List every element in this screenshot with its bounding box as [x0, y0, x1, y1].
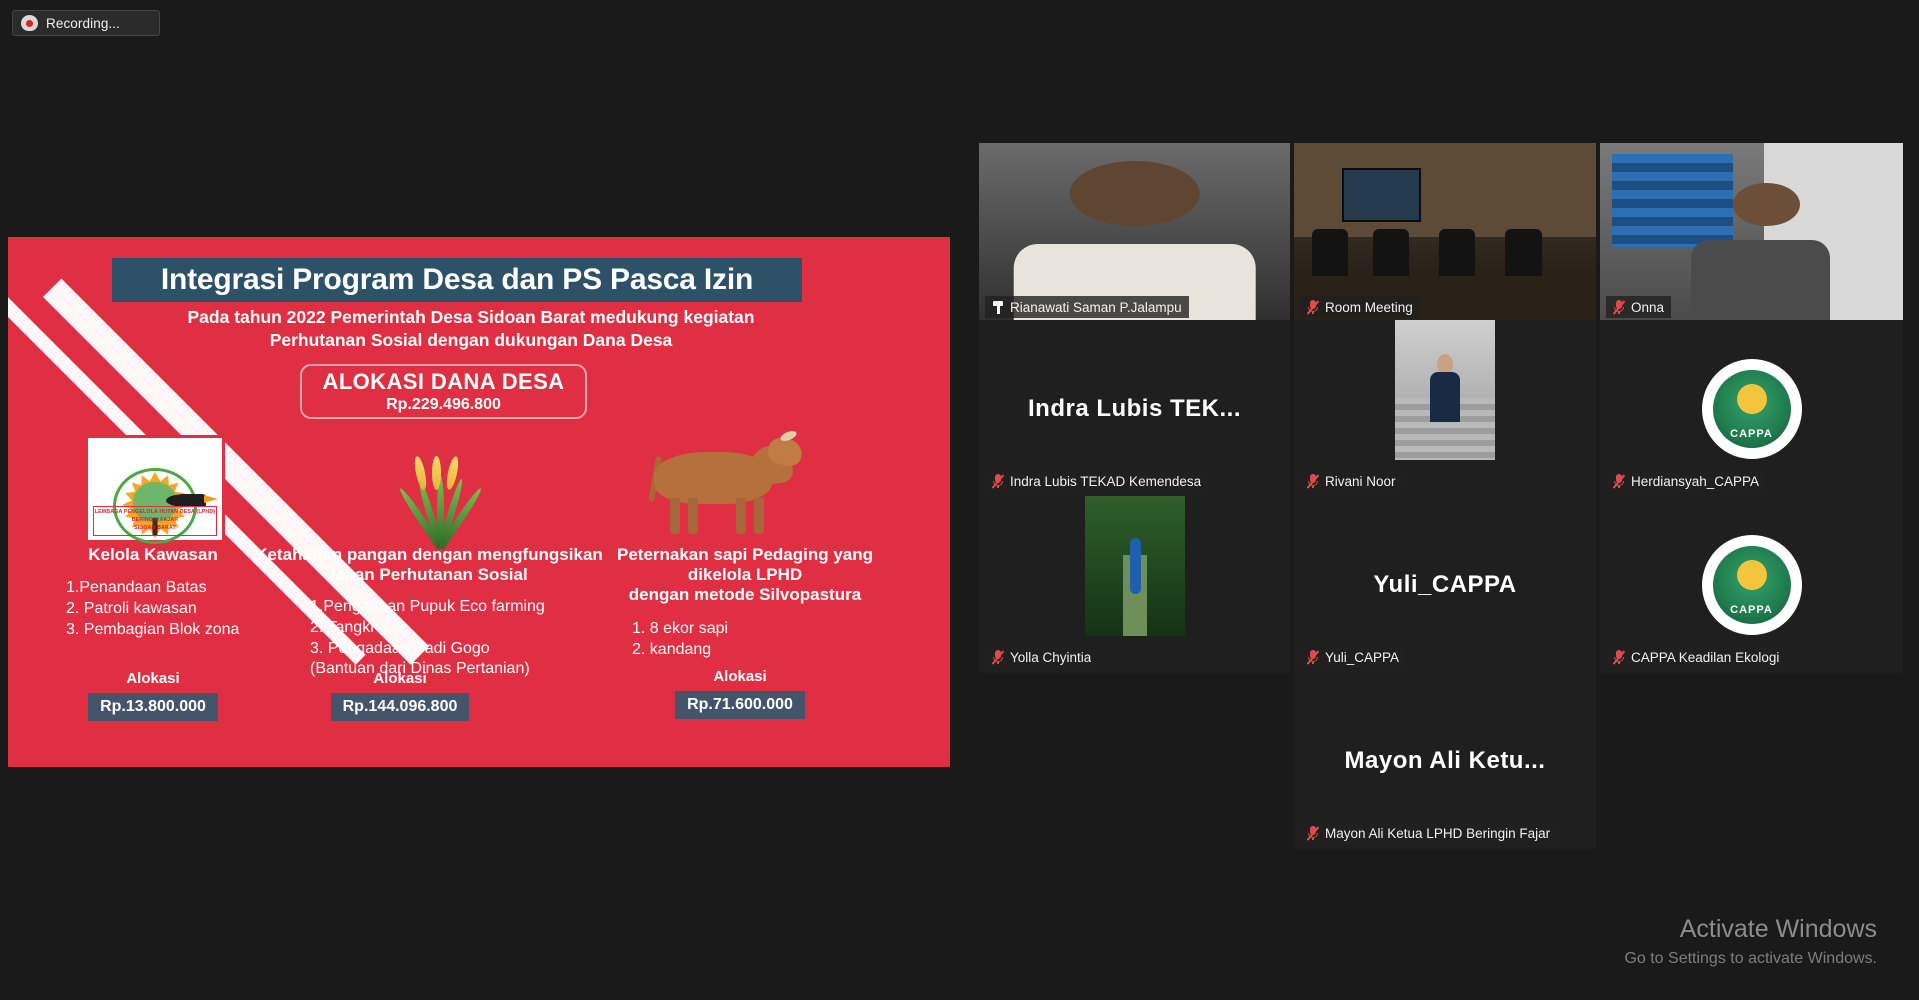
participant-name-bar: Yolla Chyintia	[985, 646, 1098, 668]
cattle-illustration	[640, 430, 800, 535]
allocation-total-label: ALOKASI DANA DESA	[323, 369, 565, 395]
participant-name-bar: CAPPA Keadilan Ekologi	[1606, 646, 1786, 668]
mic-muted-icon	[1307, 826, 1319, 841]
slide-subtitle: Pada tahun 2022 Pemerintah Desa Sidoan B…	[0, 306, 942, 352]
participant-name: Yuli_CAPPA	[1325, 650, 1399, 665]
recording-indicator[interactable]: Recording...	[12, 10, 160, 36]
column-2-heading: Ketahanan pangan dengan mengfungsikan la…	[244, 545, 614, 585]
participant-photo	[1395, 320, 1495, 460]
column-2-heading-line-1: Ketahanan pangan dengan mengfungsikan	[244, 545, 614, 565]
mic-muted-icon	[1613, 300, 1625, 315]
cappa-logo-icon: CAPPA	[1702, 535, 1802, 635]
rice-plant-illustration	[382, 438, 492, 548]
participant-name-bar: Rivani Noor	[1300, 470, 1403, 492]
logo-line-3: SIDOAN BARAT	[134, 525, 176, 533]
slide-subtitle-line-2: Perhutanan Sosial dengan dukungan Dana D…	[0, 329, 942, 352]
mic-muted-icon	[1613, 650, 1625, 665]
slide-column-3: Peternakan sapi Pedaging yang dikelola L…	[580, 545, 910, 661]
participant-name: Room Meeting	[1325, 300, 1413, 315]
column-2-list: 1.Pengadaan Pupuk Eco farming 2. Tangki …	[244, 597, 614, 680]
mic-muted-icon	[1307, 474, 1319, 489]
windows-activation-watermark: Activate Windows Go to Settings to activ…	[1624, 915, 1877, 968]
cappa-logo-text: CAPPA	[1713, 604, 1791, 616]
participant-tile-herdiansyah[interactable]: CAPPA Herdiansyah_CAPPA	[1600, 320, 1903, 497]
column-3-heading: Peternakan sapi Pedaging yang dikelola L…	[580, 545, 910, 605]
logo-text-plate: LEMBAGA PENGELOLA HUTAN DESA (LPHD) BERI…	[93, 506, 217, 536]
participant-name: Indra Lubis TEKAD Kemendesa	[1010, 474, 1201, 489]
allocation-label: Alokasi	[615, 668, 865, 685]
mic-muted-icon	[992, 474, 1004, 489]
participant-name: Onna	[1631, 300, 1664, 315]
participant-tile-mayon-ali[interactable]: Mayon Ali Ketu... Mayon Ali Ketua LPHD B…	[1294, 672, 1596, 849]
column-1-allocation: Alokasi Rp.13.800.000	[28, 670, 278, 721]
record-dot-icon	[21, 15, 38, 31]
participant-name: CAPPA Keadilan Ekologi	[1631, 650, 1779, 665]
participant-tile-cappa-keadilan[interactable]: CAPPA CAPPA Keadilan Ekologi	[1600, 496, 1903, 673]
participant-name-bar: Onna	[1606, 296, 1671, 318]
list-item: 2. kandang	[632, 640, 910, 661]
allocation-total-box: ALOKASI DANA DESA Rp.229.496.800	[300, 364, 587, 419]
allocation-total-amount: Rp.229.496.800	[386, 396, 501, 414]
cappa-logo-text: CAPPA	[1713, 428, 1791, 440]
column-2-allocation: Alokasi Rp.144.096.800	[275, 670, 525, 721]
participant-tile-yolla[interactable]: Yolla Chyintia	[979, 496, 1290, 673]
participant-name: Mayon Ali Ketua LPHD Beringin Fajar	[1325, 826, 1550, 841]
logo-line-2: BERINGIN FAJAR	[132, 517, 179, 525]
recording-label: Recording...	[46, 16, 120, 31]
participant-tile-indra-lubis[interactable]: Indra Lubis TEK... Indra Lubis TEKAD Kem…	[979, 320, 1290, 497]
participant-name-bar: Rianawati Saman P.Jalampu	[985, 296, 1189, 318]
column-1-list: 1.Penandaan Batas 2. Patroli kawasan 3. …	[28, 578, 278, 640]
slide-column-1: Kelola Kawasan 1.Penandaan Batas 2. Patr…	[28, 545, 278, 640]
participant-tile-rivani-noor[interactable]: Rivani Noor	[1294, 320, 1596, 497]
allocation-amount: Rp.13.800.000	[88, 693, 218, 721]
list-item: 1.Pengadaan Pupuk Eco farming	[310, 597, 614, 618]
mic-muted-icon	[992, 650, 1004, 665]
participant-name: Herdiansyah_CAPPA	[1631, 474, 1759, 489]
participant-name: Rianawati Saman P.Jalampu	[1010, 300, 1182, 315]
column-3-list: 1. 8 ekor sapi 2. kandang	[580, 619, 910, 661]
participant-name-bar: Mayon Ali Ketua LPHD Beringin Fajar	[1300, 822, 1557, 844]
column-3-allocation: Alokasi Rp.71.600.000	[615, 668, 865, 719]
watermark-line-1: Activate Windows	[1624, 915, 1877, 944]
lphd-logo: LEMBAGA PENGELOLA HUTAN DESA (LPHD) BERI…	[85, 435, 225, 543]
participant-tile-room-meeting[interactable]: Room Meeting	[1294, 143, 1596, 323]
allocation-amount: Rp.144.096.800	[331, 693, 470, 721]
logo-line-1: LEMBAGA PENGELOLA HUTAN DESA (LPHD)	[95, 509, 215, 517]
participant-photo	[1085, 496, 1185, 636]
participant-name-bar: Indra Lubis TEKAD Kemendesa	[985, 470, 1208, 492]
allocation-label: Alokasi	[275, 670, 525, 687]
participant-name: Yolla Chyintia	[1010, 650, 1091, 665]
participant-tile-onna[interactable]: Onna	[1600, 143, 1903, 323]
participant-tile-yuli-cappa[interactable]: Yuli_CAPPA Yuli_CAPPA	[1294, 496, 1596, 673]
list-item: 2. Tangki	[310, 618, 614, 639]
column-3-heading-line-3: dengan metode Silvopastura	[580, 585, 910, 605]
column-3-heading-line-2: dikelola LPHD	[580, 565, 910, 585]
participant-name-bar: Room Meeting	[1300, 296, 1420, 318]
pin-icon	[992, 300, 1004, 315]
watermark-line-2: Go to Settings to activate Windows.	[1624, 950, 1877, 968]
cappa-logo-icon: CAPPA	[1702, 359, 1802, 459]
slide-column-2: Ketahanan pangan dengan mengfungsikan la…	[244, 545, 614, 680]
column-2-heading-line-2: lahan Perhutanan Sosial	[244, 565, 614, 585]
allocation-amount: Rp.71.600.000	[675, 691, 805, 719]
slide-title-text: Integrasi Program Desa dan PS Pasca Izin	[161, 263, 753, 297]
list-item: 3. Pengadaan Padi Gogo	[310, 639, 614, 660]
slide-title: Integrasi Program Desa dan PS Pasca Izin	[112, 258, 802, 302]
slide-subtitle-line-1: Pada tahun 2022 Pemerintah Desa Sidoan B…	[0, 306, 942, 329]
allocation-label: Alokasi	[28, 670, 278, 687]
participant-name: Rivani Noor	[1325, 474, 1396, 489]
list-item: 1. 8 ekor sapi	[632, 619, 910, 640]
mic-muted-icon	[1307, 300, 1319, 315]
participant-tile-rianawati[interactable]: Rianawati Saman P.Jalampu	[979, 143, 1290, 323]
column-1-heading: Kelola Kawasan	[28, 545, 278, 565]
mic-muted-icon	[1307, 650, 1319, 665]
participant-name-bar: Yuli_CAPPA	[1300, 646, 1406, 668]
participant-name-bar: Herdiansyah_CAPPA	[1606, 470, 1766, 492]
mic-muted-icon	[1613, 474, 1625, 489]
column-3-heading-line-1: Peternakan sapi Pedaging yang	[580, 545, 910, 565]
